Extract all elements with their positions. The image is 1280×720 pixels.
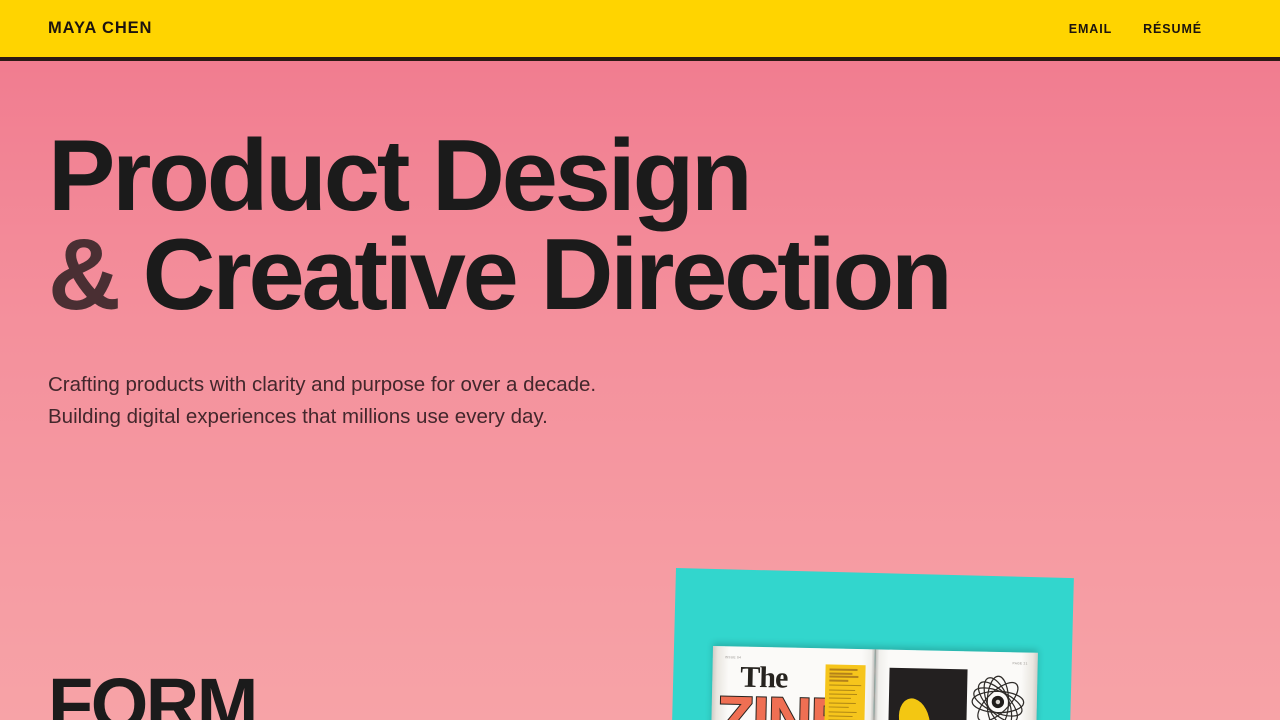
headline-line-2-text: Creative Direction — [143, 219, 950, 331]
open-magazine: ISSUE 04 The ZINE — [709, 646, 1038, 720]
nav-link-email[interactable]: EMAIL — [1069, 22, 1112, 36]
magazine-left-folio: ISSUE 04 — [725, 655, 742, 660]
headline-ampersand: & — [48, 219, 118, 331]
atom-diagram-icon — [969, 673, 1026, 720]
site-header: MAYA CHEN EMAIL RÉSUMÉ — [0, 0, 1280, 61]
subtitle-line-1: Crafting products with clarity and purpo… — [48, 369, 1280, 401]
magazine-yellow-sidebar — [822, 664, 865, 720]
pear-shape-icon — [894, 695, 932, 720]
magazine-black-panel — [886, 668, 967, 720]
primary-navigation: EMAIL RÉSUMÉ — [1069, 22, 1240, 36]
hero-subtitle: Crafting products with clarity and purpo… — [48, 369, 1280, 434]
nav-link-resume[interactable]: RÉSUMÉ — [1143, 22, 1202, 36]
section-heading-form: FORM — [48, 668, 256, 720]
brand-logo[interactable]: MAYA CHEN — [48, 19, 152, 38]
hero-section: Product Design & Creative Direction Craf… — [0, 61, 1280, 434]
headline-line-2: & Creative Direction — [48, 226, 1280, 325]
magazine-right-folio: PAGE 21 — [1012, 661, 1027, 666]
headline-line-1: Product Design — [48, 127, 1280, 226]
magazine-left-page: ISSUE 04 The ZINE — [709, 646, 875, 720]
magazine-right-page: PAGE 21 — [872, 649, 1038, 720]
showcase-image: ISSUE 04 The ZINE — [676, 560, 1076, 720]
page-title: Product Design & Creative Direction — [48, 127, 1280, 325]
subtitle-line-2: Building digital experiences that millio… — [48, 401, 1280, 433]
